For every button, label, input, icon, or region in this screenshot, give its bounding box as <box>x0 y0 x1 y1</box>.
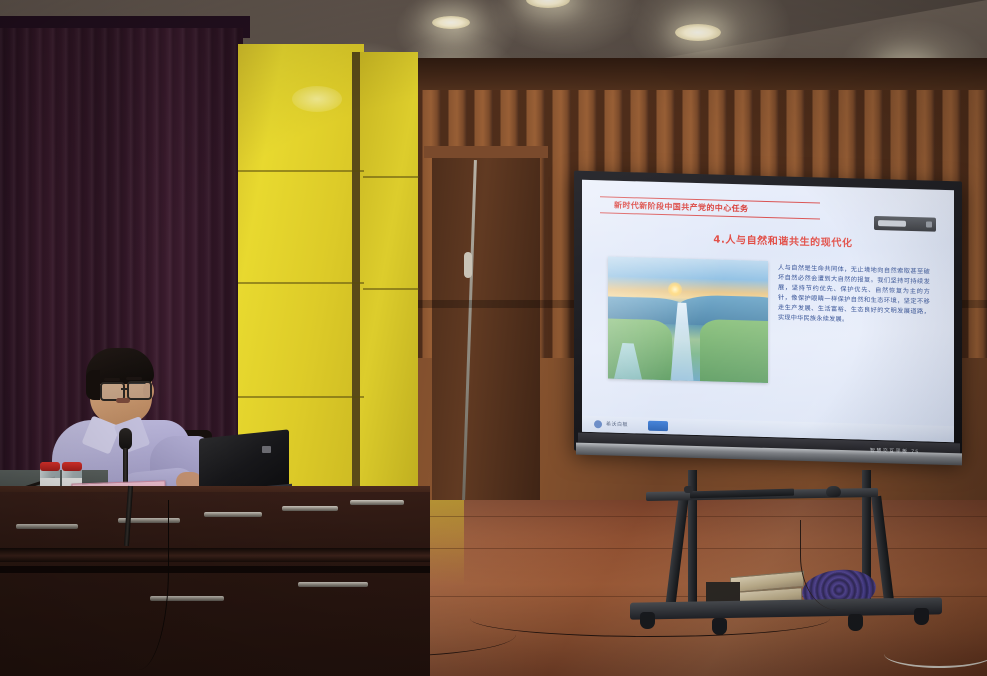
bottle-cap <box>62 462 82 471</box>
slide-title: 4.人与自然和谐共生的现代化 <box>668 229 898 250</box>
slide-header: 新时代新阶段中国共产党的中心任务 <box>600 196 830 219</box>
speaker-brow-right <box>126 377 142 380</box>
photo-gloss <box>608 257 768 383</box>
display-screen[interactable]: 新时代新阶段中国共产党的中心任务 4.人与自然和谐共生的现代化 人与自然是生命共… <box>582 180 954 442</box>
doorway[interactable] <box>432 152 540 512</box>
speaker-brow-left <box>104 378 120 381</box>
yellow-panel2-seam-1 <box>363 176 419 178</box>
yellow-wall-panel-2 <box>360 52 418 508</box>
yellow-panel-seam-2 <box>238 282 364 284</box>
desk-mid-rail <box>0 548 430 562</box>
taskbar-app-icon[interactable] <box>594 420 602 428</box>
interactive-flat-panel[interactable]: 新时代新阶段中国共产党的中心任务 4.人与自然和谐共生的现代化 人与自然是生命共… <box>574 176 962 468</box>
floor-seam-1 <box>430 516 987 517</box>
bottle-cap <box>40 462 60 471</box>
cart-caster-4 <box>914 608 929 625</box>
yellow-panel-seam-3 <box>238 396 364 398</box>
cart-clip <box>684 486 693 493</box>
wood-wall-shadow <box>415 58 987 90</box>
desk-handle-1[interactable] <box>16 524 78 529</box>
microphone-head[interactable] <box>119 428 132 450</box>
speaker-hair-side <box>86 370 100 400</box>
speaker-mouth <box>116 398 130 403</box>
glasses-bridge <box>121 388 129 390</box>
ceiling-light-5 <box>432 16 470 29</box>
slide-landscape-photo <box>608 257 768 383</box>
mouse-icon[interactable] <box>826 486 841 497</box>
slide-body-text: 人与自然是生命共同体，无止境地向自然索取甚至破坏自然必然会遭到大自然的报复。我们… <box>778 263 930 327</box>
taskbar-ppt-tile[interactable] <box>648 421 668 432</box>
desk-handle-4[interactable] <box>282 506 338 511</box>
desk-mid-rail-2 <box>0 566 430 573</box>
glasses-lens-right <box>127 381 152 400</box>
desk-handle-5[interactable] <box>350 500 404 505</box>
laptop-logo-icon <box>262 446 271 453</box>
yellow-panel-seam-1 <box>238 170 364 172</box>
door-handle-icon[interactable] <box>464 252 472 278</box>
annotation-toolbar-overlay[interactable] <box>874 216 936 232</box>
desk-handle-3[interactable] <box>204 512 262 517</box>
desk-handle-7[interactable] <box>298 582 368 587</box>
floor-seam-2 <box>430 548 987 549</box>
floor-cable-1 <box>470 600 830 637</box>
ceiling-light-1 <box>675 24 721 41</box>
taskbar-app-label: 希沃白板 <box>606 420 628 428</box>
yellow-wall-light-spot <box>292 86 342 112</box>
overlay-label-pill <box>878 220 906 227</box>
floor-cable-white <box>884 640 987 668</box>
door-lintel <box>424 146 548 158</box>
cart-caster-3 <box>848 614 863 631</box>
lecture-hall-photo: 新时代新阶段中国共产党的中心任务 4.人与自然和谐共生的现代化 人与自然是生命共… <box>0 0 987 676</box>
yellow-panel2-seam-2 <box>363 288 419 290</box>
overlay-close-icon[interactable] <box>926 221 932 227</box>
